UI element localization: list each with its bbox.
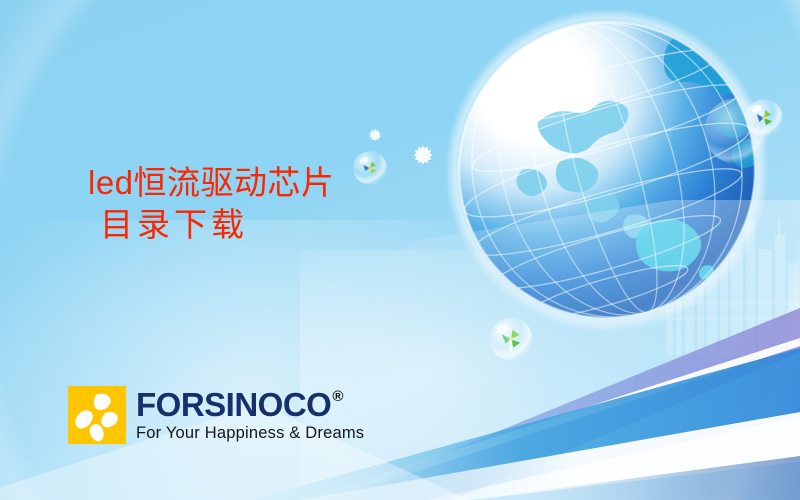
sparkle-small-icon [364,124,386,146]
brand-name-text: FORSINOCO [136,388,331,421]
bubble-pinwheel-right-icon [744,98,784,138]
brand-name: FORSINOCO® [136,388,364,421]
promo-banner: led恒流驱动芯片 目录下载 FORSINOCO® For Your Happi… [0,0,800,500]
headline-text: led恒流驱动芯片 目录下载 [88,162,335,246]
registered-trademark-symbol: ® [332,389,343,404]
sparkle-large-icon [406,138,440,172]
headline-line-2: 目录下载 [88,204,335,246]
headline-line-1: led恒流驱动芯片 [88,164,335,201]
bubble-pinwheel-mid-icon [488,316,534,362]
brand-tagline: For Your Happiness & Dreams [136,425,364,442]
brand-logo[interactable]: FORSINOCO® For Your Happiness & Dreams [68,386,364,444]
logo-text-block: FORSINOCO® For Your Happiness & Dreams [136,388,364,442]
bubble-pinwheel-top-icon [352,150,388,186]
forsinoco-petal-mark-icon [68,386,126,444]
